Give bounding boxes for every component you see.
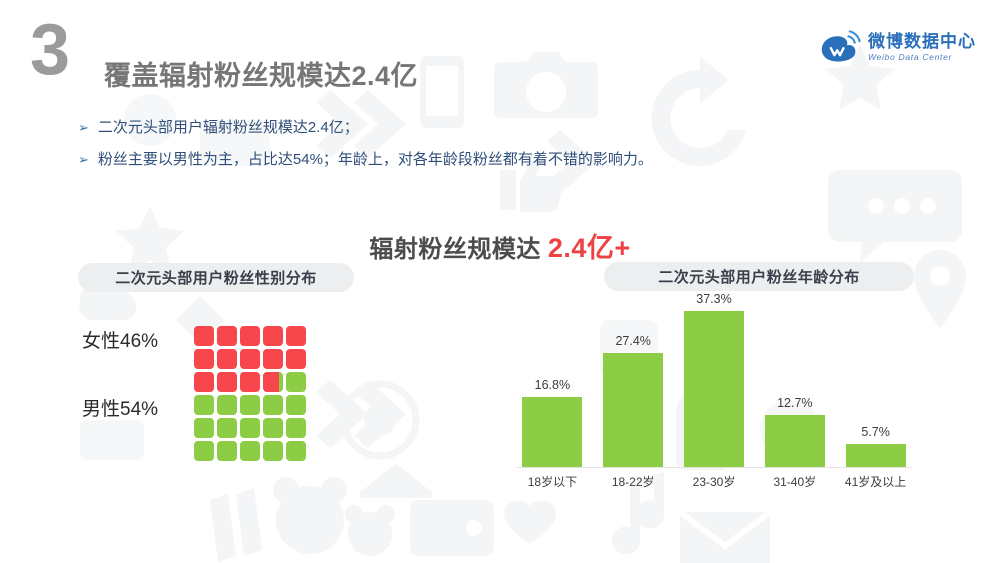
x-axis-tick-label: 18岁以下 (510, 476, 594, 488)
bar-plot-area: 16.8%27.4%37.3%12.7%5.7% (512, 300, 916, 468)
gender-waffle-chart (194, 326, 306, 461)
bar-column: 12.7% (765, 397, 825, 469)
waffle-cell (217, 441, 237, 461)
waffle-cell (240, 395, 260, 415)
bullet-list: ➢ 二次元头部用户辐射粉丝规模达2.4亿； ➢ 粉丝主要以男性为主，占比达54%… (78, 118, 653, 182)
waffle-cell (263, 372, 283, 392)
waffle-cell (240, 441, 260, 461)
bullet-item: ➢ 二次元头部用户辐射粉丝规模达2.4亿； (78, 118, 653, 138)
logo-en-text: Weibo Data Center (868, 53, 976, 62)
waffle-cell (286, 326, 306, 346)
bar-rect (522, 397, 582, 468)
waffle-cell (217, 418, 237, 438)
waffle-cell (194, 418, 214, 438)
waffle-cell (263, 418, 283, 438)
bar-rect (846, 444, 906, 468)
waffle-cell (194, 349, 214, 369)
waffle-cell (217, 395, 237, 415)
waffle-cell (263, 395, 283, 415)
headline-banner: 辐射粉丝规模达2.4亿+ (0, 226, 1000, 265)
waffle-cell (240, 349, 260, 369)
gender-label-male: 男性54% (82, 400, 158, 419)
bar-rect (684, 311, 744, 468)
waffle-cell (263, 326, 283, 346)
bar-rect (603, 353, 663, 468)
x-axis-tick-label: 23-30岁 (672, 476, 756, 488)
waffle-cell (263, 441, 283, 461)
bar-value-label: 5.7% (861, 426, 890, 439)
waffle-cell (217, 372, 237, 392)
bar-rect (765, 415, 825, 468)
waffle-cell (194, 395, 214, 415)
bar-column: 37.3% (684, 293, 744, 469)
slide-canvas: 3 覆盖辐射粉丝规模达2.4亿 微博数据中心 Weibo Data Center… (0, 0, 1000, 563)
bullet-text: 粉丝主要以男性为主，占比达54%；年龄上，对各年龄段粉丝都有着不错的影响力。 (98, 150, 653, 170)
x-axis-tick-labels: 18岁以下18-22岁23-30岁31-40岁41岁及以上 (512, 468, 916, 496)
headline-label: 辐射粉丝规模达 (369, 236, 541, 263)
bar-value-label: 37.3% (696, 293, 731, 306)
bar-column: 16.8% (522, 379, 582, 469)
bar-column: 5.7% (846, 426, 906, 469)
x-axis-tick-label: 31-40岁 (753, 476, 837, 488)
waffle-cell (286, 418, 306, 438)
gender-legend: 女性46% 男性54% (82, 332, 158, 419)
bar-value-label: 16.8% (535, 379, 570, 392)
gender-label-female: 女性46% (82, 332, 158, 351)
page-title: 覆盖辐射粉丝规模达2.4亿 (104, 60, 418, 92)
waffle-cell (286, 349, 306, 369)
logo-cn-text: 微博数据中心 (868, 33, 976, 50)
waffle-cell (217, 349, 237, 369)
waffle-cell (240, 372, 260, 392)
waffle-cell (263, 349, 283, 369)
waffle-cell (194, 372, 214, 392)
section-title-age: 二次元头部用户粉丝年龄分布 (604, 262, 914, 291)
waffle-cell (194, 441, 214, 461)
slide-number: 3 (30, 14, 69, 86)
x-axis-tick-label: 41岁及以上 (834, 476, 918, 488)
x-axis-tick-label: 18-22岁 (591, 476, 675, 488)
bar-value-label: 12.7% (777, 397, 812, 410)
bullet-arrow-icon: ➢ (78, 118, 89, 138)
waffle-cell (286, 395, 306, 415)
bullet-item: ➢ 粉丝主要以男性为主，占比达54%；年龄上，对各年龄段粉丝都有着不错的影响力。 (78, 150, 653, 170)
waffle-cell (194, 326, 214, 346)
bullet-arrow-icon: ➢ (78, 150, 89, 170)
bullet-text: 二次元头部用户辐射粉丝规模达2.4亿； (98, 118, 359, 138)
weibo-logo-icon (819, 30, 861, 64)
headline-value: 2.4亿+ (548, 233, 631, 263)
waffle-cell (240, 326, 260, 346)
section-title-gender: 二次元头部用户粉丝性别分布 (78, 263, 354, 292)
bar-column: 27.4% (603, 335, 663, 469)
waffle-cell (240, 418, 260, 438)
weibo-data-center-logo: 微博数据中心 Weibo Data Center (819, 30, 976, 64)
waffle-cell (286, 441, 306, 461)
waffle-cell (217, 326, 237, 346)
waffle-cell (286, 372, 306, 392)
bar-value-label: 27.4% (615, 335, 650, 348)
age-distribution-bar-chart: 16.8%27.4%37.3%12.7%5.7% 18岁以下18-22岁23-3… (512, 300, 916, 496)
